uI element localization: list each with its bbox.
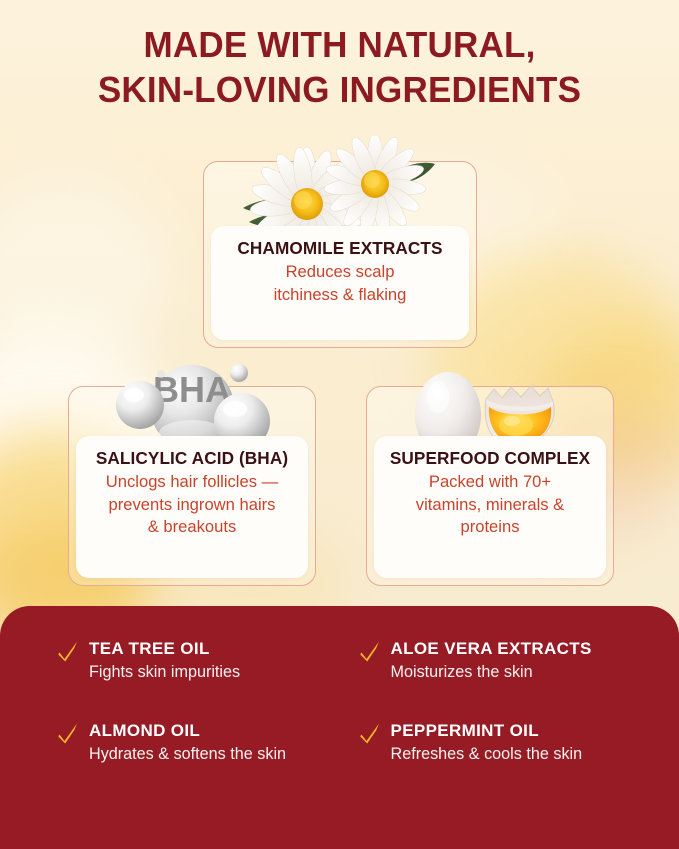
benefit-item-aloe-vera[interactable]: ALOE VERA EXTRACTS Moisturizes the skin [360,638,640,684]
benefit-title: TEA TREE OIL [89,638,240,659]
benefit-description: Hydrates & softens the skin [89,744,286,766]
benefit-item-peppermint-oil[interactable]: PEPPERMINT OIL Refreshes & cools the ski… [360,720,640,766]
check-icon [360,722,380,746]
check-icon [360,640,380,664]
superfood-description: Packed with 70+ vitamins, minerals & pro… [382,471,598,539]
ingredient-card-salicylic-acid[interactable]: BHA SALICYLIC ACID (BHA) Unclogs hair fo… [68,386,316,586]
benefit-title: ALMOND OIL [89,720,286,741]
chamomile-desc-line-1: Reduces scalp [286,262,395,281]
benefit-title: ALOE VERA EXTRACTS [391,638,592,659]
chamomile-title: CHAMOMILE EXTRACTS [219,237,461,259]
superfood-desc-line-1: Packed with 70+ [429,472,551,491]
benefit-title: PEPPERMINT OIL [391,720,583,741]
salicylic-desc-line-3: & breakouts [148,517,237,536]
salicylic-desc-line-1: Unclogs hair follicles — [106,472,278,491]
benefit-description: Fights skin impurities [89,662,240,684]
superfood-title: SUPERFOOD COMPLEX [382,447,598,469]
chamomile-text-panel: CHAMOMILE EXTRACTS Reduces scalp itchine… [211,226,469,340]
chamomile-desc-line-2: itchiness & flaking [274,285,407,304]
ingredients-infographic: MADE WITH NATURAL, SKIN-LOVING INGREDIEN… [0,0,679,849]
page-header: MADE WITH NATURAL, SKIN-LOVING INGREDIEN… [0,22,679,112]
page-title: MADE WITH NATURAL, SKIN-LOVING INGREDIEN… [14,22,666,112]
page-title-line-2: SKIN-LOVING INGREDIENTS [98,69,581,110]
superfood-desc-line-3: proteins [460,517,519,536]
salicylic-acid-description: Unclogs hair follicles — prevents ingrow… [84,471,300,539]
salicylic-acid-text-panel: SALICYLIC ACID (BHA) Unclogs hair follic… [76,436,308,578]
ingredient-card-superfood[interactable]: SUPERFOOD COMPLEX Packed with 70+ vitami… [366,386,614,586]
superfood-text-panel: SUPERFOOD COMPLEX Packed with 70+ vitami… [374,436,606,578]
benefit-item-tea-tree-oil[interactable]: TEA TREE OIL Fights skin impurities [58,638,338,684]
page-title-line-1: MADE WITH NATURAL, [143,24,535,65]
check-icon [58,722,78,746]
check-icon [58,640,78,664]
salicylic-acid-title: SALICYLIC ACID (BHA) [84,447,300,469]
benefit-item-almond-oil[interactable]: ALMOND OIL Hydrates & softens the skin [58,720,338,766]
benefits-panel: TEA TREE OIL Fights skin impurities ALOE… [0,606,679,849]
benefit-description: Moisturizes the skin [391,662,592,684]
chamomile-description: Reduces scalp itchiness & flaking [219,261,461,306]
superfood-desc-line-2: vitamins, minerals & [416,495,564,514]
benefits-grid: TEA TREE OIL Fights skin impurities ALOE… [58,638,639,765]
salicylic-desc-line-2: prevents ingrown hairs [109,495,276,514]
benefit-description: Refreshes & cools the skin [391,744,583,766]
ingredient-card-chamomile[interactable]: CHAMOMILE EXTRACTS Reduces scalp itchine… [203,161,477,348]
